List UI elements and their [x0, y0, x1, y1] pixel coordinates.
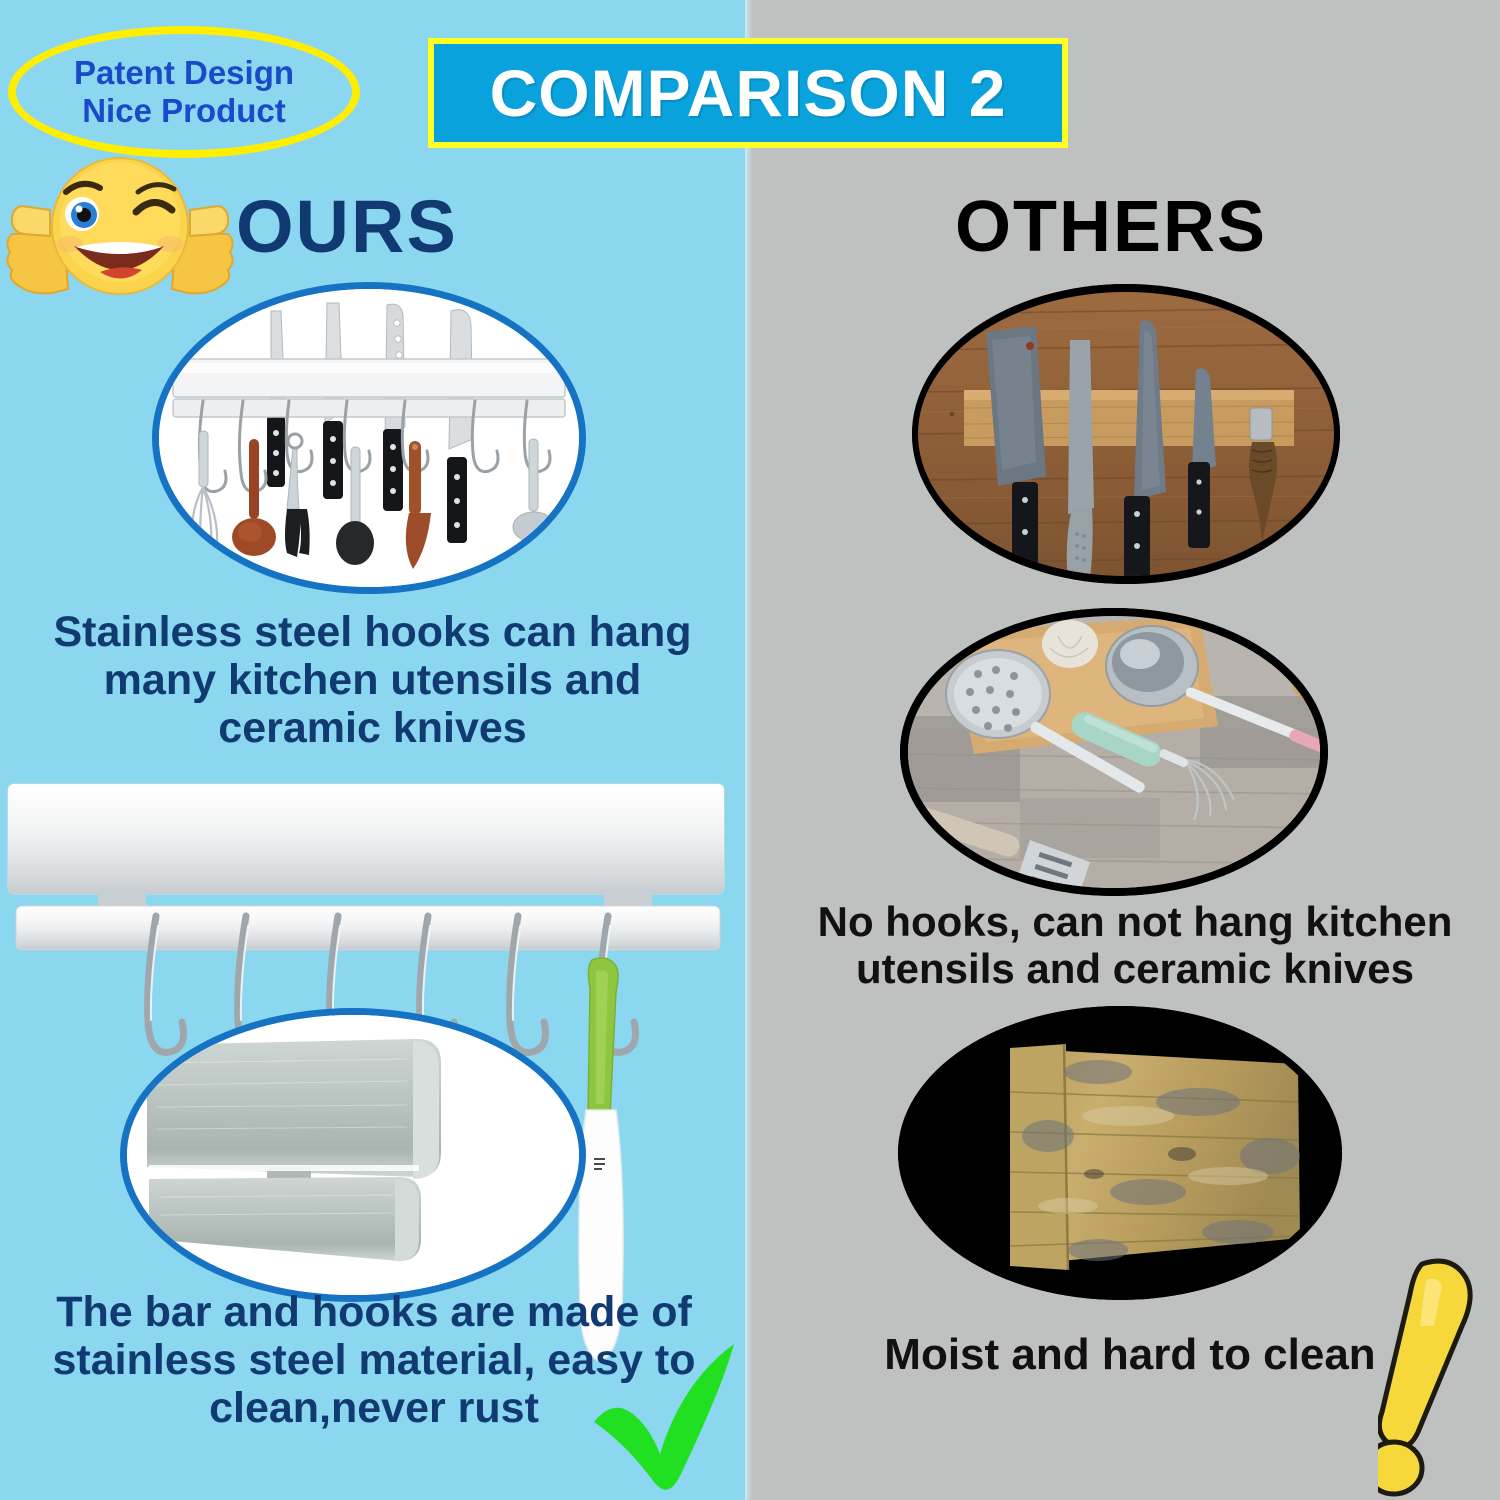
- others-heading: OTHERS: [955, 186, 1267, 268]
- banner-title: COMPARISON 2: [490, 55, 1007, 131]
- others-caption-2: Moist and hard to clean: [830, 1330, 1430, 1379]
- yellow-exclamation-icon: [1378, 1250, 1498, 1500]
- badge-line-1: Patent Design: [74, 54, 294, 92]
- badge-line-2: Nice Product: [82, 92, 286, 130]
- utensils-on-counter-photo: [900, 608, 1328, 896]
- green-check-icon: [592, 1330, 742, 1495]
- others-caption-1: No hooks, can not hang kitchen utensils …: [790, 898, 1480, 992]
- magnetic-knife-bar-with-hooks-photo: [152, 282, 586, 594]
- wooden-knife-strip-photo: [912, 284, 1340, 584]
- ours-heading: OURS: [236, 184, 458, 269]
- moldy-wood-board-photo: [898, 1006, 1342, 1300]
- infographic-canvas: Patent Design Nice Product: [0, 0, 1500, 1500]
- patent-design-badge: Patent Design Nice Product: [8, 26, 360, 158]
- comparison-banner: COMPARISON 2: [428, 38, 1068, 148]
- stainless-bar-closeup-photo: [120, 1008, 586, 1302]
- ours-caption-1: Stainless steel hooks can hang many kitc…: [40, 608, 705, 752]
- smiley-thumbs-up-icon: [4, 148, 236, 308]
- panel-divider: [745, 0, 753, 1500]
